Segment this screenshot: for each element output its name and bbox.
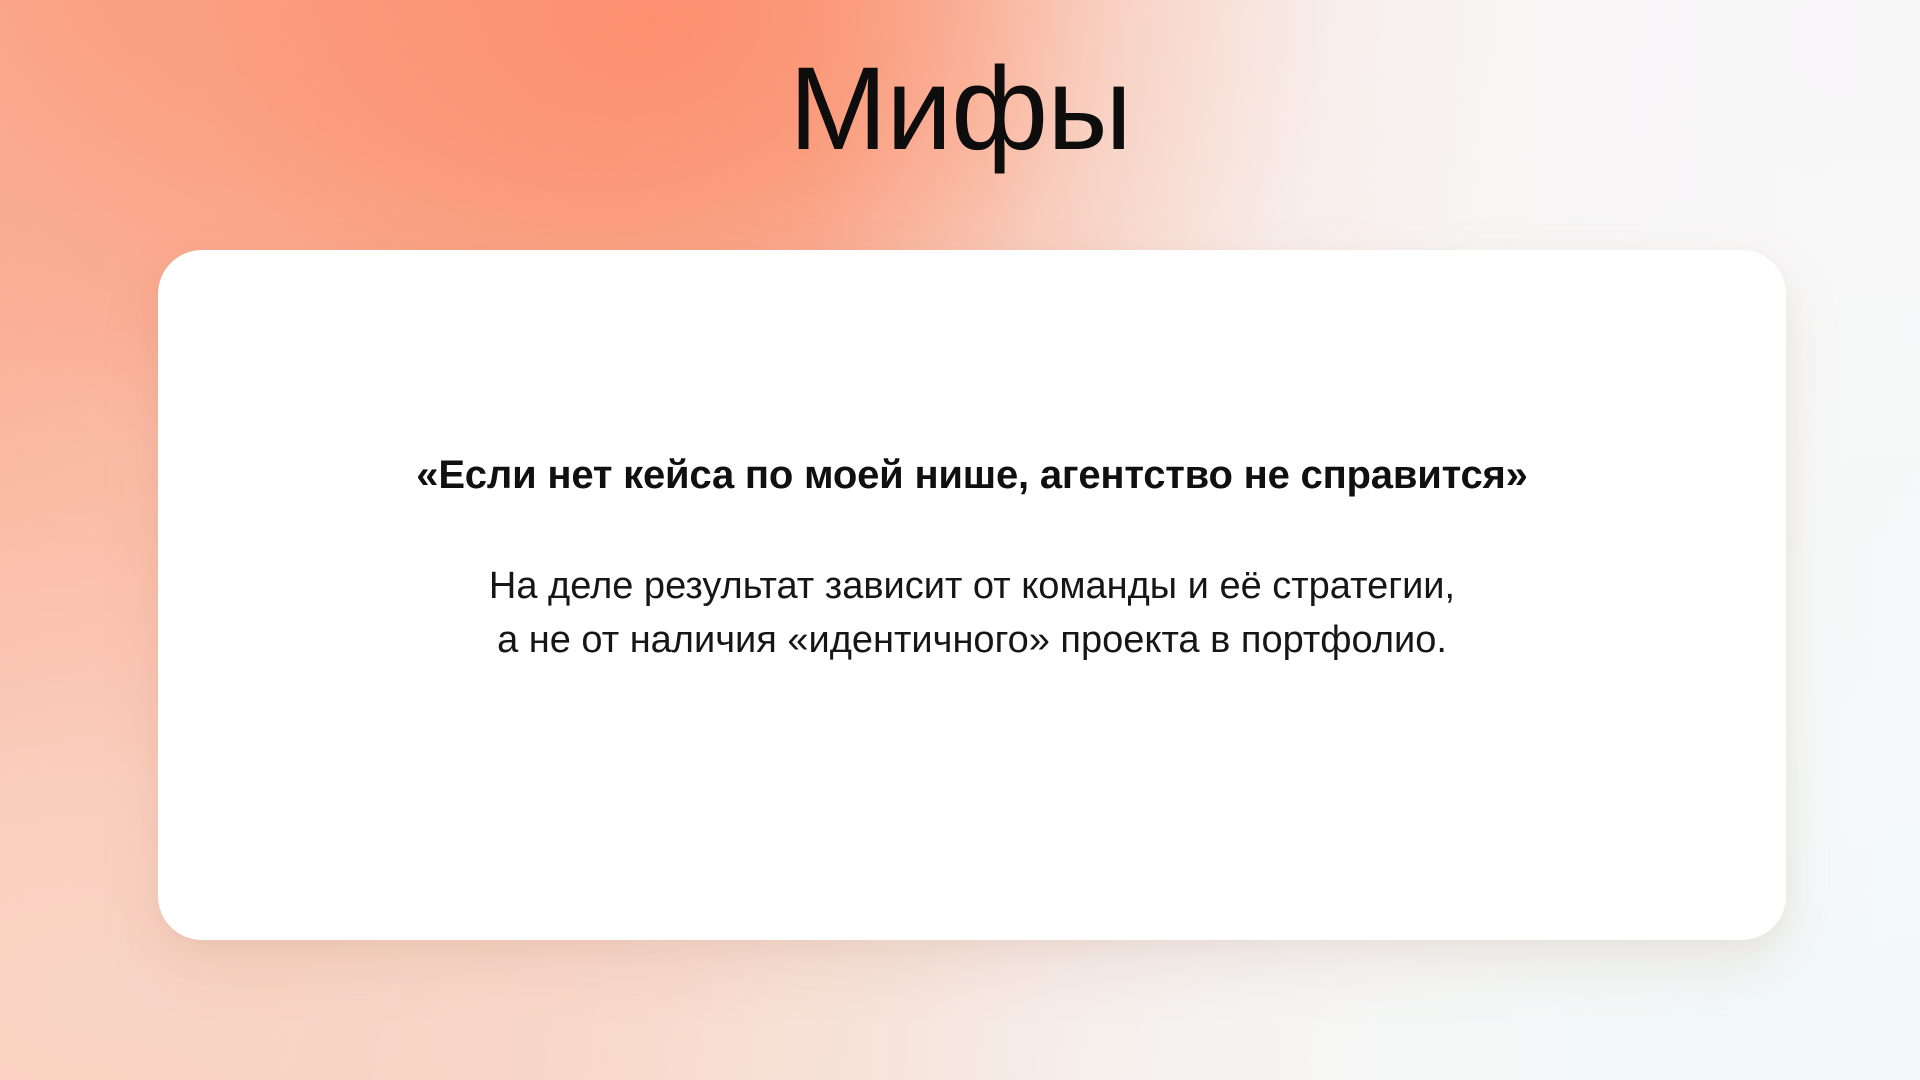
slide-title: Мифы xyxy=(0,46,1920,173)
myth-explanation-line-2: а не от наличия «идентичного» проекта в … xyxy=(248,614,1696,668)
myth-explanation: На деле результат зависит от команды и е… xyxy=(248,560,1696,668)
myth-explanation-line-1: На деле результат зависит от команды и е… xyxy=(248,560,1696,614)
card-body: «Если нет кейса по моей нише, агентство … xyxy=(158,250,1786,668)
slide-canvas: Мифы «Если нет кейса по моей нише, агент… xyxy=(0,0,1920,1080)
myth-quote: «Если нет кейса по моей нише, агентство … xyxy=(248,450,1696,500)
content-card: «Если нет кейса по моей нише, агентство … xyxy=(158,250,1786,940)
